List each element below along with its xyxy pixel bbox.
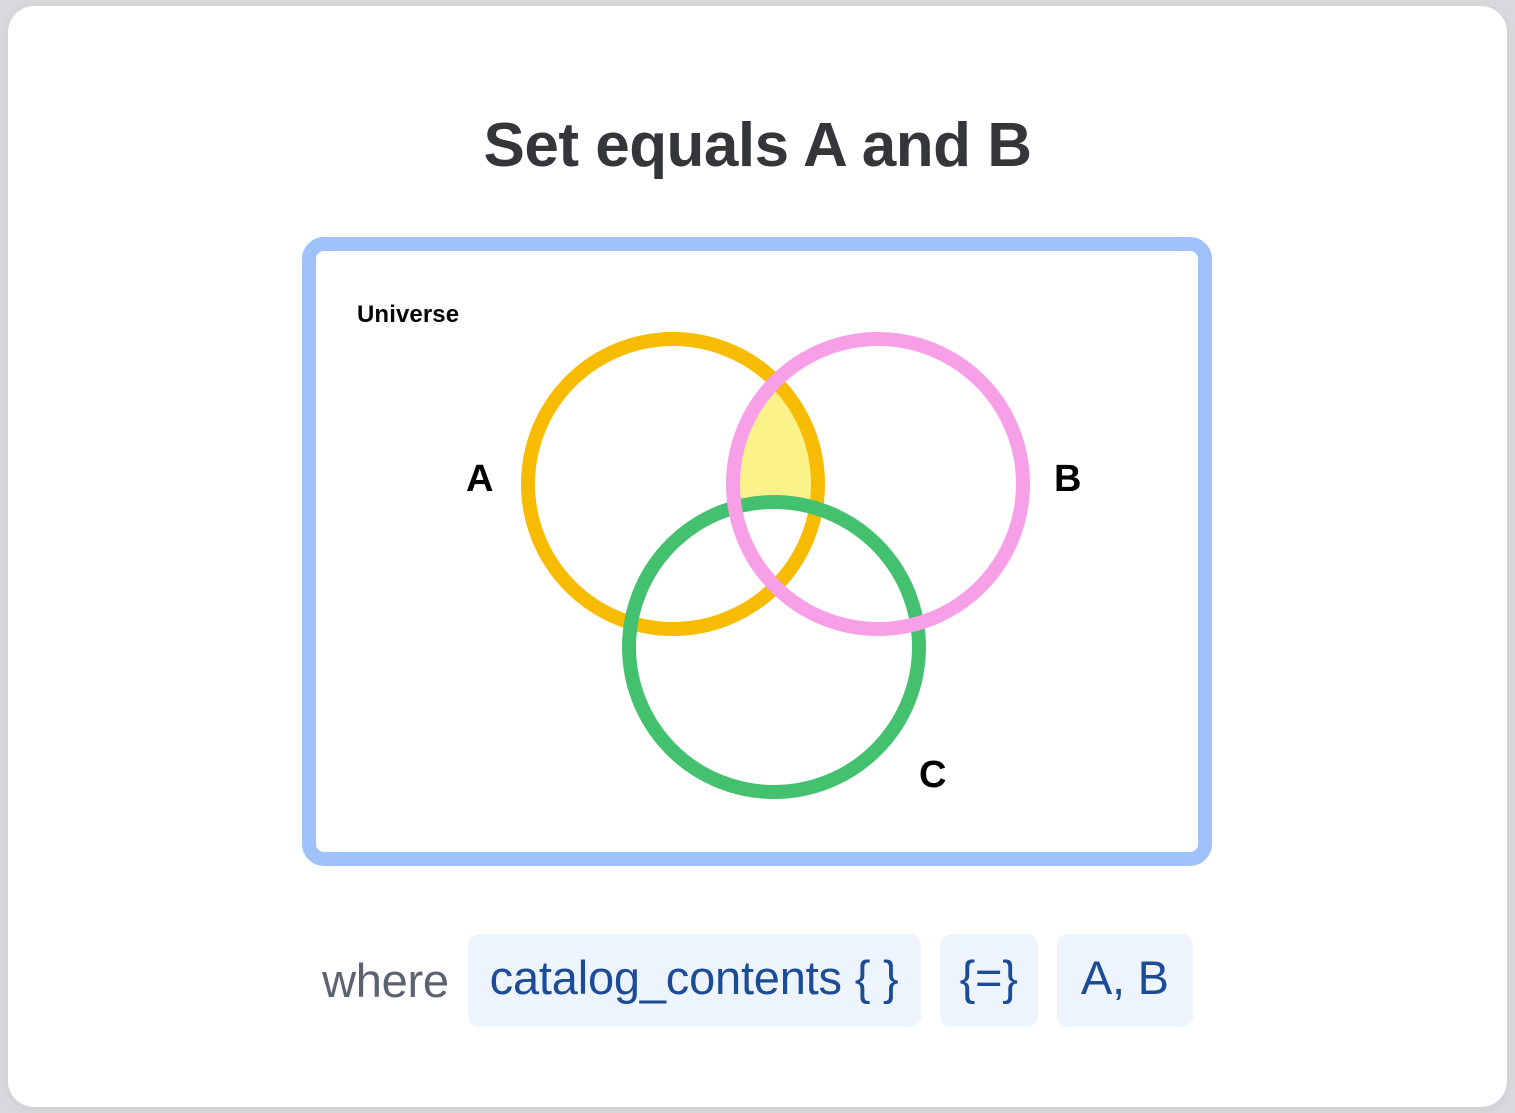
set-label-c: C [919,756,946,794]
universe-box: Universe [302,237,1212,866]
where-value-chip[interactable]: A, B [1057,934,1193,1027]
where-operator-chip[interactable]: {=} [940,934,1038,1027]
page-title: Set equals A and B [8,110,1507,181]
set-label-b: B [1054,460,1081,498]
diagram-card: Set equals A and B Universe [8,6,1507,1107]
where-field-chip[interactable]: catalog_contents { } [468,934,921,1027]
where-clause-row: where catalog_contents { } {=} A, B [8,934,1507,1027]
set-label-a: A [466,460,493,498]
where-keyword: where [322,953,449,1008]
set-circle-c [629,502,919,792]
venn-diagram [316,251,1226,880]
